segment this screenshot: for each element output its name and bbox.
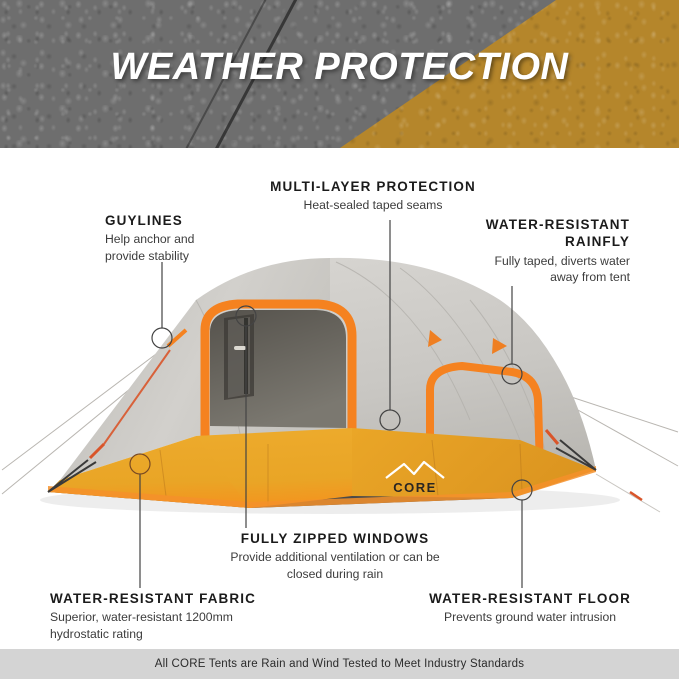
core-logo-text: CORE [393,480,437,495]
callout-rainfly-desc: Fully taped, diverts water away from ten… [430,253,630,286]
callout-windows: FULLY ZIPPED WINDOWS Provide additional … [190,530,480,582]
callout-guylines-desc: Help anchor and provide stability [105,231,275,264]
callout-floor-desc: Prevents ground water intrusion [405,609,655,625]
callout-fabric: WATER-RESISTANT FABRIC Superior, water-r… [50,590,290,642]
callout-guylines: GUYLINES Help anchor and provide stabili… [105,212,275,264]
callout-floor-title: WATER-RESISTANT FLOOR [405,590,655,607]
infographic-page: WEATHER PROTECTION [0,0,679,679]
callout-fabric-desc: Superior, water-resistant 1200mm hydrost… [50,609,290,642]
door-pull-tab [234,346,246,350]
callout-floor: WATER-RESISTANT FLOOR Prevents ground wa… [405,590,655,626]
callout-rainfly: WATER-RESISTANT RAINFLY Fully taped, div… [430,216,630,285]
callout-rainfly-title: WATER-RESISTANT RAINFLY [430,216,630,251]
callout-guylines-title: GUYLINES [105,212,275,229]
callout-multilayer-title: MULTI-LAYER PROTECTION [228,178,518,195]
callout-windows-desc: Provide additional ventilation or can be… [190,549,480,582]
footer-bar: All CORE Tents are Rain and Wind Tested … [0,649,679,679]
callout-windows-title: FULLY ZIPPED WINDOWS [190,530,480,547]
callout-multilayer-desc: Heat-sealed taped seams [228,197,518,213]
callout-fabric-title: WATER-RESISTANT FABRIC [50,590,290,607]
door-inner-detail [224,314,254,400]
footer-text: All CORE Tents are Rain and Wind Tested … [155,658,524,670]
callout-multilayer: MULTI-LAYER PROTECTION Heat-sealed taped… [228,178,518,214]
